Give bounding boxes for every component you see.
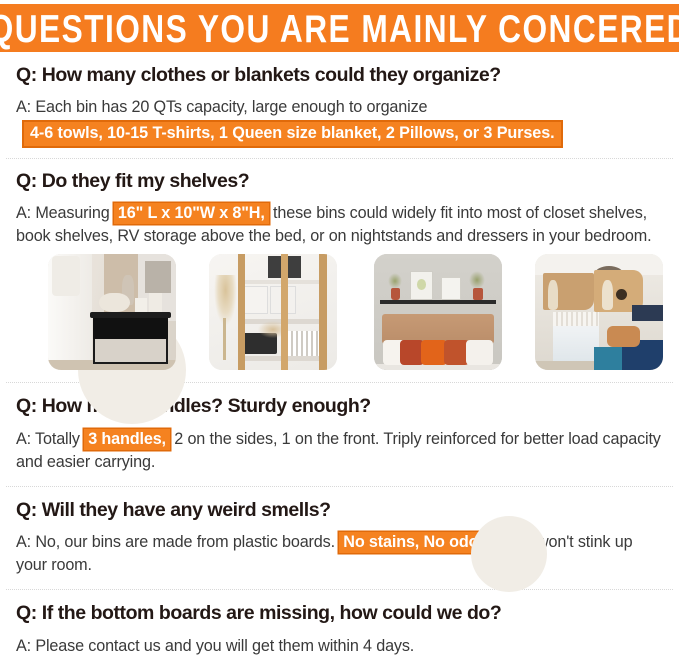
faq-item-4: Q: Will they have any weird smells? A: N… bbox=[0, 488, 679, 578]
faq-answer-3: A: Totally 3 handles, 2 on the sides, 1 … bbox=[16, 428, 663, 474]
faq-answer-3-pre: A: Totally bbox=[16, 430, 84, 448]
faq-answer-1-text: A: Each bin has 20 QTs capacity, large e… bbox=[16, 98, 427, 116]
shelving-unit-photo[interactable] bbox=[209, 254, 337, 370]
faq-item-2: Q: Do they fit my shelves? A: Measuring … bbox=[0, 160, 679, 377]
faq-answer-1-highlight: 4-6 towls, 10-15 T-shirts, 1 Queen size … bbox=[24, 122, 561, 146]
faq-answer-3-highlight: 3 handles, bbox=[84, 429, 170, 450]
faq-answer-5-text: A: Please contact us and you will get th… bbox=[16, 637, 414, 655]
faq-content: Q: How many clothes or blankets could th… bbox=[0, 52, 679, 658]
faq-answer-4: A: No, our bins are made from plastic bo… bbox=[16, 531, 663, 577]
bed-with-pillows-photo[interactable] bbox=[374, 254, 502, 370]
faq-answer-1: A: Each bin has 20 QTs capacity, large e… bbox=[16, 96, 663, 119]
faq-item-1: Q: How many clothes or blankets could th… bbox=[0, 52, 679, 146]
faq-answer-2-pre: A: Measuring bbox=[16, 204, 114, 222]
faq-question-2: Q: Do they fit my shelves? bbox=[16, 172, 663, 192]
header-banner: QUESTIONS YOU ARE MAINLY CONCERED bbox=[0, 4, 679, 52]
faq-answer-4-pre: A: No, our bins are made from plastic bo… bbox=[16, 533, 339, 551]
bedroom-nightstand-photo[interactable] bbox=[48, 254, 176, 370]
faq-answer-2-highlight: 16" L x 10"W x 8"H, bbox=[114, 203, 269, 224]
faq-question-5: Q: If the bottom boards are missing, how… bbox=[16, 604, 663, 624]
faq-question-1: Q: How many clothes or blankets could th… bbox=[16, 66, 663, 86]
faq-question-4: Q: Will they have any weird smells? bbox=[16, 501, 663, 521]
page-title: QUESTIONS YOU ARE MAINLY CONCERED bbox=[0, 9, 679, 48]
rv-interior-photo[interactable] bbox=[535, 254, 663, 370]
faq-answer-5: A: Please contact us and you will get th… bbox=[16, 635, 663, 658]
decorative-blob-right bbox=[471, 516, 547, 592]
photo-gallery bbox=[16, 254, 663, 376]
faq-answer-2: A: Measuring 16" L x 10"W x 8"H, these b… bbox=[16, 202, 663, 248]
faq-item-5: Q: If the bottom boards are missing, how… bbox=[0, 591, 679, 658]
